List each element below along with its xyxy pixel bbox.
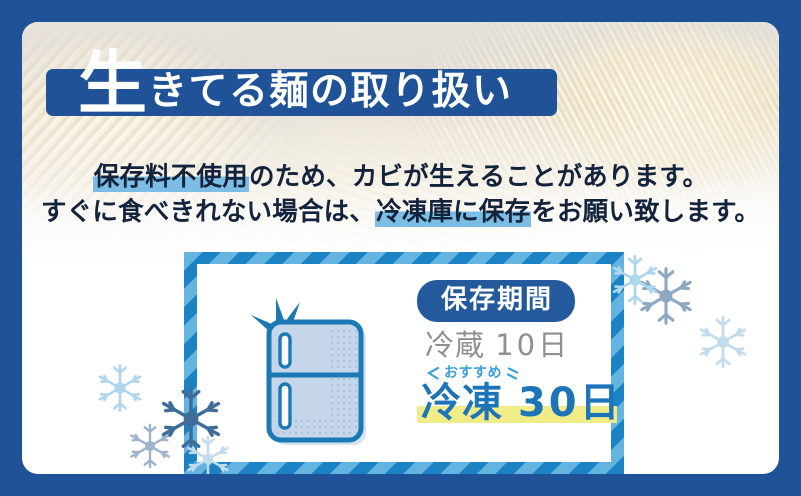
title-large-character: 生 (78, 50, 146, 119)
white-panel: 生 きてる麺の取り扱い 保存料不使用のため、カビが生えることがあります。 すぐに… (22, 22, 779, 474)
status-badge: 保存期間 (417, 280, 575, 322)
title-remainder: きてる麺の取り扱い (148, 72, 513, 111)
body-copy: 保存料不使用のため、カビが生えることがあります。 すぐに食べきれない場合は、冷凍… (22, 160, 779, 230)
refrigerated-row: 冷蔵 10日 (417, 331, 617, 360)
body-line-2-tail: をお願い致します。 (531, 197, 760, 227)
highlight-no-preservatives: 保存料不使用 (93, 162, 249, 192)
poster-root: 生 きてる麺の取り扱い 保存料不使用のため、カビが生えることがあります。 すぐに… (0, 0, 801, 496)
body-line-1: 保存料不使用のため、カビが生えることがあります。 (22, 160, 779, 195)
snowflake-icon (608, 253, 662, 307)
frozen-duration: 30 (518, 380, 580, 426)
refrigerated-method: 冷蔵 (425, 328, 485, 362)
refrigerated-unit: 日 (538, 328, 568, 362)
page-title: 生 きてる麺の取り扱い (78, 50, 513, 119)
highlight-freezer-storage: 冷凍庫に保存 (375, 197, 531, 227)
body-line-2-head: すぐに食べきれない場合は、 (41, 197, 375, 227)
snowflake-icon (695, 314, 751, 370)
refrigerator-icon (245, 292, 395, 457)
frozen-row: 冷凍 30日 (417, 383, 617, 423)
storage-period-card: 保存期間 冷蔵 10日 おすすめ (184, 252, 624, 474)
body-line-1-tail: のため、カビが生えることがあります。 (249, 162, 708, 192)
frozen-method: 冷凍 (421, 380, 503, 426)
refrigerated-duration: 10 (495, 328, 538, 362)
tick-left-icon (427, 367, 440, 380)
body-line-2: すぐに食べきれない場合は、冷凍庫に保存をお願い致します。 (22, 195, 779, 230)
storage-details: 保存期間 冷蔵 10日 おすすめ (417, 280, 617, 423)
frozen-unit: 日 (580, 380, 621, 426)
recommended-label: おすすめ (444, 366, 502, 380)
snowflake-icon (183, 434, 233, 474)
storage-card-inner: 保存期間 冷蔵 10日 おすすめ (197, 264, 611, 462)
snowflake-icon (94, 362, 146, 414)
tick-right-icon (506, 367, 519, 380)
